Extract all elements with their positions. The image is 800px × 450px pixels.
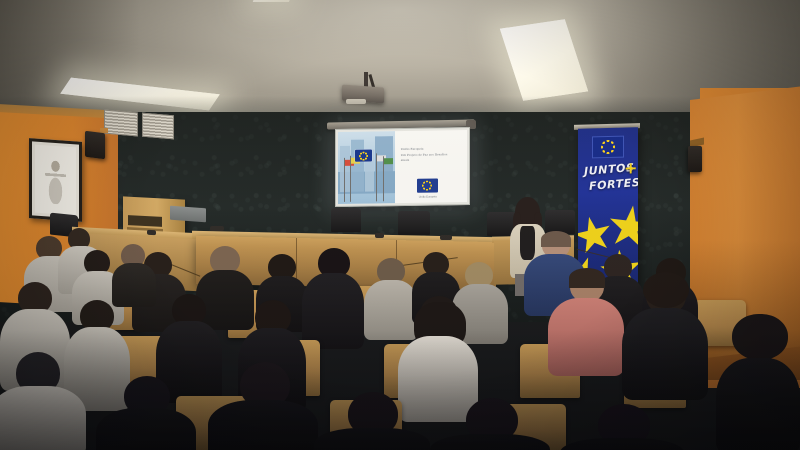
slide-photo bbox=[338, 131, 395, 204]
slide-logo-caption: União Europeia bbox=[415, 195, 441, 198]
speaker-icon bbox=[688, 146, 702, 172]
presentation-slide: União Europeia Um Projeto de Paz aos Des… bbox=[338, 130, 467, 204]
audience-body bbox=[430, 434, 550, 450]
slide-building bbox=[340, 146, 350, 192]
audience-member-salmon-shirt bbox=[548, 270, 624, 370]
microphone-icon bbox=[440, 235, 452, 240]
picture-mat bbox=[35, 145, 76, 216]
audience-body bbox=[716, 358, 800, 450]
audience-body bbox=[208, 400, 318, 450]
audience-member bbox=[716, 318, 800, 450]
slide-eu-logo-icon bbox=[417, 178, 438, 192]
ceiling-light-icon bbox=[253, 0, 293, 2]
speaker-icon bbox=[85, 131, 105, 159]
desk-object bbox=[210, 226, 224, 231]
audience-body bbox=[96, 408, 196, 450]
audience-body bbox=[622, 308, 708, 400]
ventilation-grille-icon bbox=[142, 113, 174, 140]
audience-body bbox=[560, 438, 684, 450]
laptop-icon bbox=[170, 206, 206, 223]
audience-member bbox=[302, 248, 364, 344]
banner-eu-flag-icon bbox=[592, 136, 624, 159]
audience-hair bbox=[541, 231, 571, 247]
audience-member bbox=[96, 376, 196, 450]
audience-member bbox=[560, 404, 684, 450]
audience-hair-curly bbox=[643, 272, 689, 308]
audience-member bbox=[112, 244, 156, 302]
microphone-icon bbox=[375, 233, 384, 238]
ventilation-grille-icon bbox=[104, 110, 138, 137]
panel-chair bbox=[398, 211, 430, 235]
audience-member bbox=[314, 392, 430, 450]
audience-hair-braids bbox=[732, 314, 788, 360]
slide-text-block: União Europeia Um Projeto de Paz aos Des… bbox=[395, 130, 467, 203]
banner-word-fortes: FORTES bbox=[589, 176, 638, 193]
audience-member bbox=[208, 362, 318, 450]
microphone-icon bbox=[147, 230, 156, 235]
framed-picture bbox=[29, 138, 82, 222]
portrait-drawing bbox=[45, 157, 66, 204]
banner-star-icon bbox=[605, 203, 638, 252]
banner-plus-icon: + bbox=[624, 158, 638, 177]
auditorium-photo: União Europeia Um Projeto de Paz aos Des… bbox=[0, 0, 800, 450]
audience-member bbox=[0, 352, 86, 450]
lectern-shelf bbox=[128, 215, 162, 227]
audience-body bbox=[548, 298, 624, 376]
projection-screen: União Europeia Um Projeto de Paz aos Des… bbox=[335, 127, 470, 207]
audience-body bbox=[302, 273, 364, 349]
panel-chair bbox=[331, 208, 361, 232]
audience-body bbox=[0, 386, 86, 450]
slide-flag bbox=[384, 158, 393, 164]
slide-eu-flag-icon bbox=[355, 149, 372, 161]
audience-body bbox=[314, 428, 430, 450]
audience-member-black-jacket bbox=[622, 276, 708, 392]
slide-line-3: atuais bbox=[401, 157, 463, 164]
audience-member bbox=[430, 398, 550, 450]
audience-hair bbox=[569, 268, 605, 288]
